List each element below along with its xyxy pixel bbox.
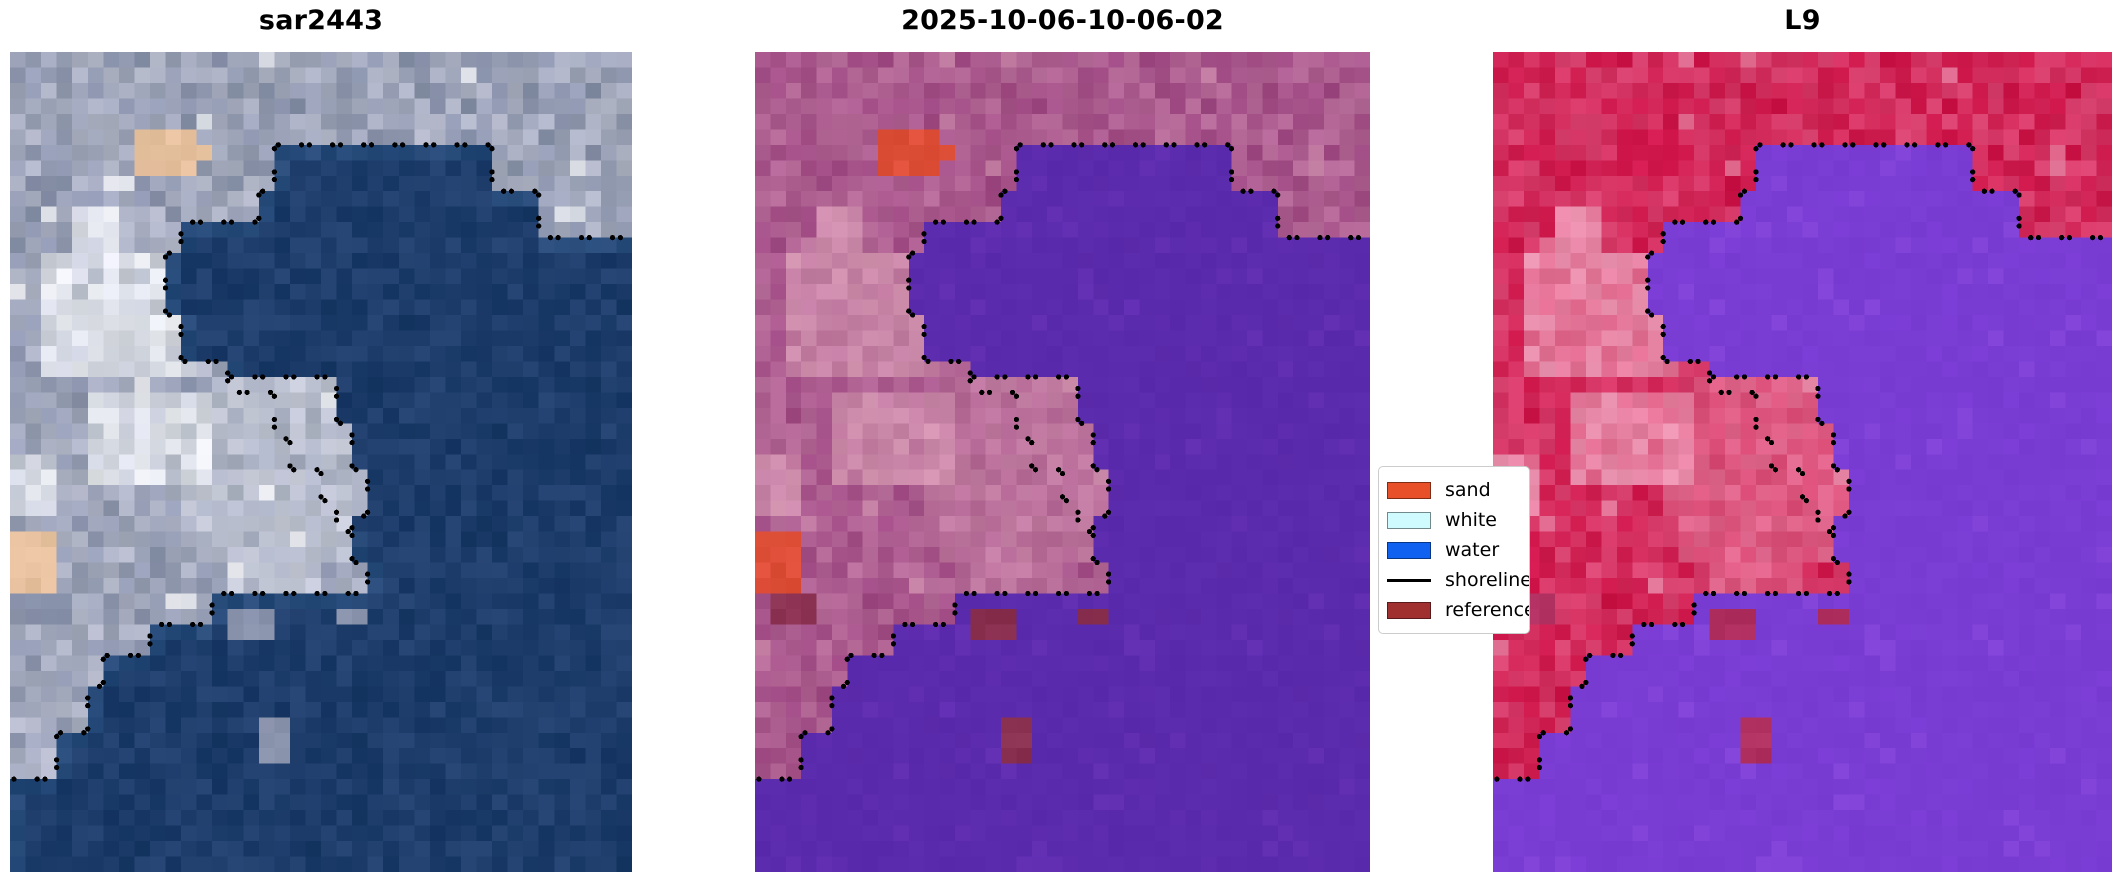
legend-item-white[interactable]: white xyxy=(1387,505,1519,535)
legend[interactable]: sandwhitewatershorelinereference xyxy=(1378,466,1530,634)
legend-label-white: white xyxy=(1445,509,1497,531)
panel-classified-title: 2025-10-06-10-06-02 xyxy=(755,4,1370,38)
l9-raster xyxy=(1493,52,2112,872)
panel-sar2443[interactable] xyxy=(10,52,632,872)
panel-classified[interactable] xyxy=(755,52,1370,872)
figure-canvas: sar2443 2025-10-06-10-06-02 L9 sandwhite… xyxy=(0,0,2122,889)
legend-item-reference[interactable]: reference xyxy=(1387,595,1519,625)
legend-label-water: water xyxy=(1445,539,1499,561)
legend-item-shoreline[interactable]: shoreline xyxy=(1387,565,1519,595)
legend-label-shoreline: shoreline xyxy=(1445,569,1530,591)
legend-swatch-shoreline xyxy=(1387,572,1431,589)
legend-swatch-water xyxy=(1387,542,1431,559)
panel-l9[interactable] xyxy=(1493,52,2112,872)
legend-label-reference: reference xyxy=(1445,599,1530,621)
legend-item-sand[interactable]: sand xyxy=(1387,475,1519,505)
panel-sar2443-title: sar2443 xyxy=(10,4,632,38)
legend-label-sand: sand xyxy=(1445,479,1491,501)
legend-swatch-white xyxy=(1387,512,1431,529)
panel-l9-title: L9 xyxy=(1493,4,2112,38)
legend-swatch-reference xyxy=(1387,602,1431,619)
legend-item-water[interactable]: water xyxy=(1387,535,1519,565)
legend-swatch-sand xyxy=(1387,482,1431,499)
sar2443-raster xyxy=(10,52,632,872)
classified-raster xyxy=(755,52,1370,872)
